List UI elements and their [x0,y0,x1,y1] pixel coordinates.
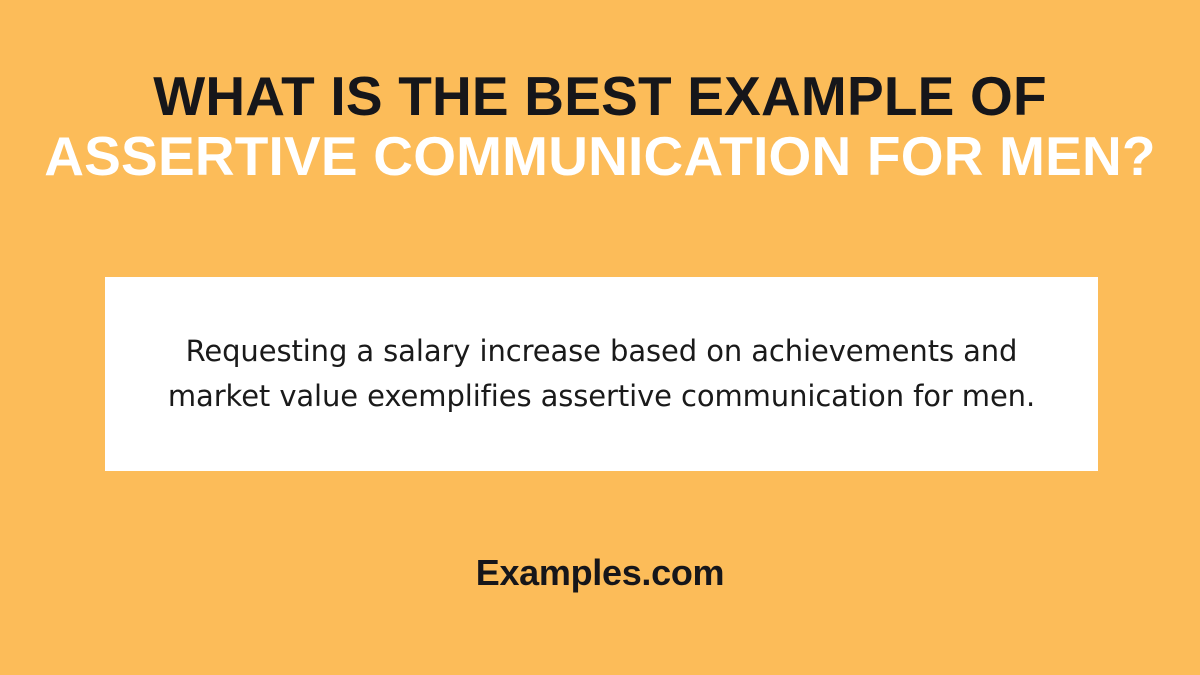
page-title-segment-dark: WHAT IS THE BEST EXAMPLE OF [153,65,1047,127]
info-card: WHAT IS THE BEST EXAMPLE OF ASSERTIVE CO… [0,0,1200,675]
answer-panel: Requesting a salary increase based on ac… [105,277,1098,471]
page-title: WHAT IS THE BEST EXAMPLE OF ASSERTIVE CO… [0,66,1200,186]
answer-text: Requesting a salary increase based on ac… [132,329,1072,419]
page-title-segment-highlight: ASSERTIVE COMMUNICATION FOR MEN? [44,125,1155,187]
brand-footer: Examples.com [0,551,1200,595]
